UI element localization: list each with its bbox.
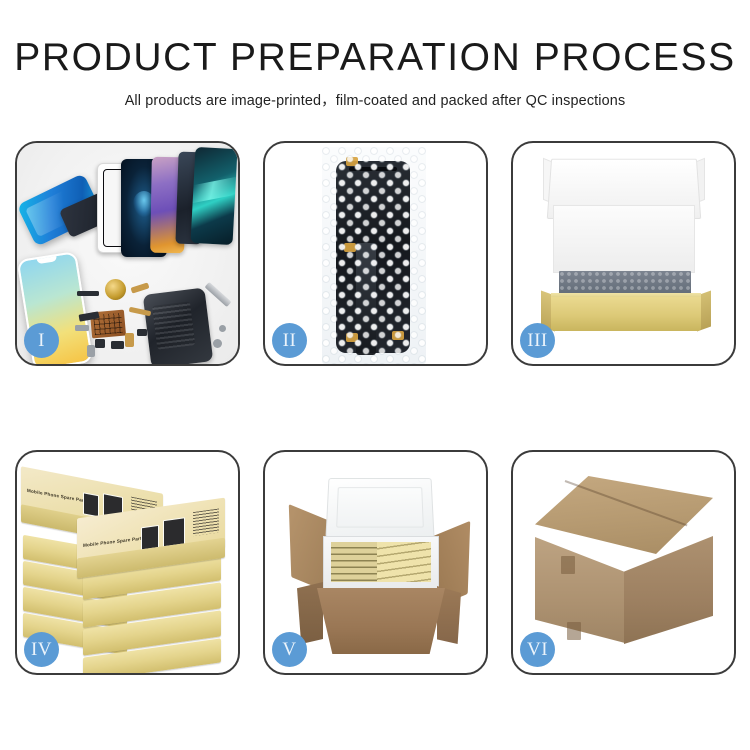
spare-part-image [75, 325, 89, 331]
box-label-text: Mobile Phone Spare Parts [27, 488, 89, 504]
phone-back-housing-image [143, 287, 214, 364]
box-window-image [83, 492, 99, 517]
teal-swirl-phone-image [191, 147, 238, 245]
step-badge-3: III [520, 323, 555, 358]
spare-part-image [111, 341, 124, 349]
foam-lid-front-image [553, 205, 695, 273]
header: PRODUCT PREPARATION PROCESS All products… [0, 36, 750, 110]
bubble-texture-highlight [322, 147, 426, 364]
box-spec-lines-image [193, 508, 219, 536]
carton-front-image [317, 588, 445, 654]
spare-part-image [77, 291, 99, 296]
boxes-row-left-image [331, 542, 377, 582]
product-preparation-poster: PRODUCT PREPARATION PROCESS All products… [0, 0, 750, 750]
bubble-wrap-bag-image [322, 147, 426, 364]
carton-tape-image [567, 622, 581, 640]
spare-part-image [125, 333, 134, 347]
process-step-panel-5: V [263, 450, 488, 675]
spare-part-image [219, 325, 226, 332]
step-badge-1: I [24, 323, 59, 358]
page-title: PRODUCT PREPARATION PROCESS [0, 36, 750, 80]
spare-part-image [137, 329, 147, 336]
kraft-box-front-image [551, 297, 701, 331]
carton-tape-image [561, 556, 575, 574]
carton-right-face-image [624, 536, 713, 644]
carton-top-face-image [535, 476, 713, 554]
step-badge-2: II [272, 323, 307, 358]
process-step-panel-3: III [511, 141, 736, 366]
spare-part-image [213, 339, 222, 348]
box-label-text: Mobile Phone Spare Parts [83, 535, 145, 548]
process-step-panel-6: VI [511, 450, 736, 675]
step-badge-4: IV [24, 632, 59, 667]
step-badge-5: V [272, 632, 307, 667]
spare-part-image [87, 345, 95, 357]
boxes-row-right-image [377, 542, 431, 582]
process-step-panel-2: II [263, 141, 488, 366]
page-subtitle: All products are image-printed，film-coat… [0, 89, 750, 110]
process-step-panel-4: Mobile Phone Spare Parts Mobile Phone Sp… [15, 450, 240, 675]
process-step-grid: I II [15, 141, 737, 675]
foam-lid-open-image [325, 478, 434, 538]
step-badge-6: VI [520, 632, 555, 667]
spare-part-image [95, 339, 105, 348]
kraft-boxes-inside-image [331, 542, 431, 582]
taptic-coil-image [105, 279, 126, 300]
process-step-panel-1: I [15, 141, 240, 366]
